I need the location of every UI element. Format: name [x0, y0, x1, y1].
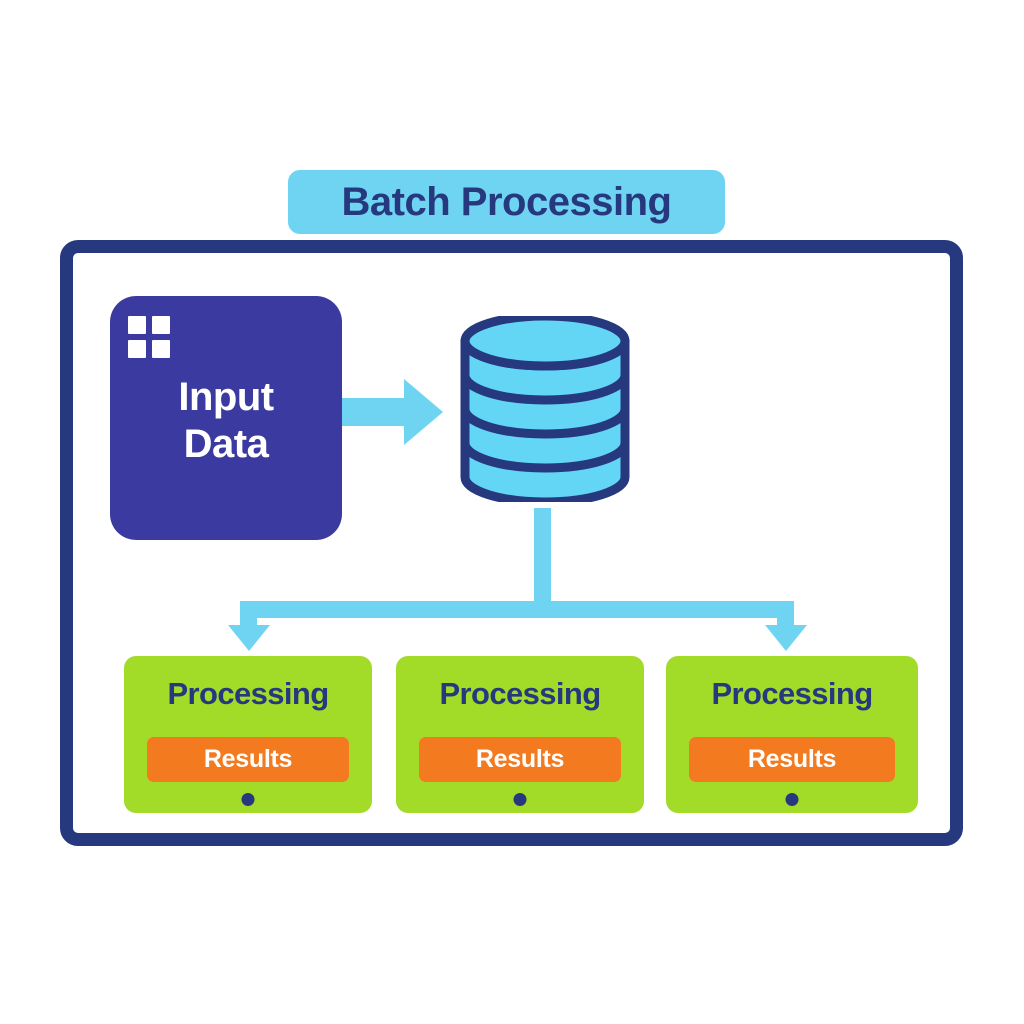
- input-label-line-1: Input: [110, 374, 342, 421]
- node-input-data-label: Input Data: [110, 374, 342, 468]
- status-dot-icon: [242, 793, 255, 806]
- node-input-data[interactable]: Input Data: [110, 296, 342, 540]
- card-processing-title: Processing: [666, 678, 918, 709]
- results-badge[interactable]: Results: [147, 737, 349, 782]
- results-badge-label: Results: [748, 747, 836, 772]
- node-database[interactable]: [456, 316, 634, 502]
- card-processing[interactable]: Processing Results: [666, 656, 918, 813]
- results-badge[interactable]: Results: [419, 737, 621, 782]
- status-dot-icon: [786, 793, 799, 806]
- card-processing[interactable]: Processing Results: [124, 656, 372, 813]
- card-processing[interactable]: Processing Results: [396, 656, 644, 813]
- database-cylinder-icon: [456, 316, 634, 502]
- card-processing-title: Processing: [124, 678, 372, 709]
- diagram-title-banner: Batch Processing: [288, 170, 725, 234]
- input-label-line-2: Data: [110, 421, 342, 468]
- status-dot-icon: [514, 793, 527, 806]
- diagram-canvas: Batch Processing: [0, 0, 1024, 1024]
- page-title: Batch Processing: [342, 182, 672, 222]
- results-badge-label: Results: [204, 747, 292, 772]
- results-badge-label: Results: [476, 747, 564, 772]
- grid-2x2-icon: [128, 316, 170, 358]
- card-processing-title: Processing: [396, 678, 644, 709]
- results-badge[interactable]: Results: [689, 737, 895, 782]
